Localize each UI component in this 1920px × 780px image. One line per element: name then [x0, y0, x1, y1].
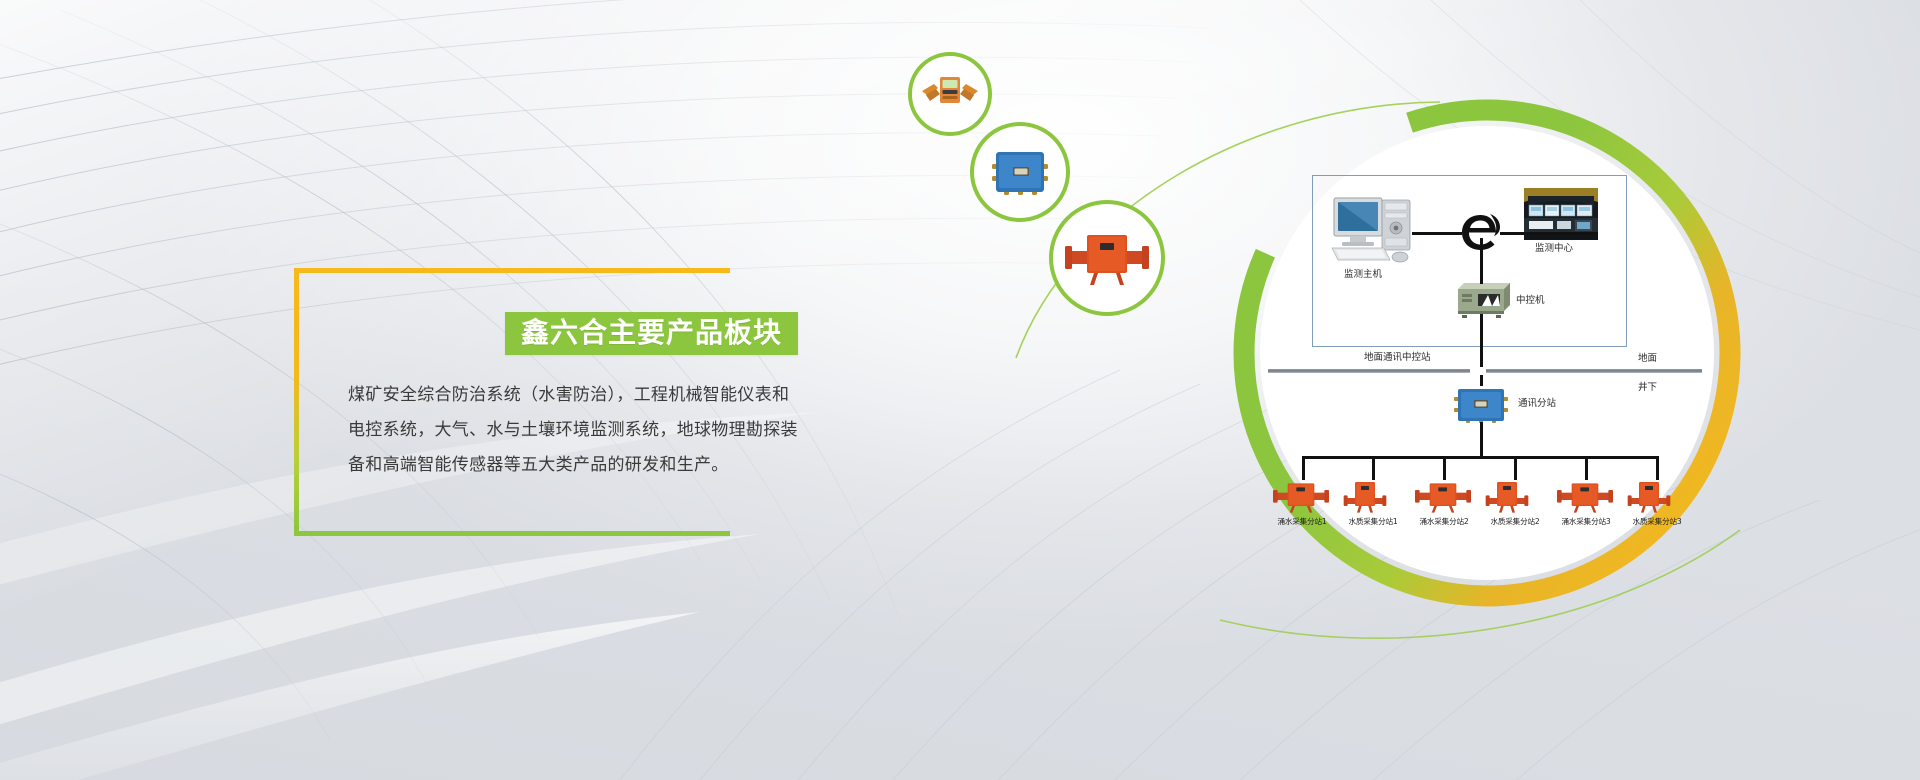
wire-host-to-net [1412, 232, 1462, 235]
substation-row: 涌水采集分站1 水质采集分站1 [1260, 456, 1714, 580]
substation-label: 涌水采集分站2 [1412, 516, 1476, 527]
underground-zone-label: 井下 [1638, 382, 1657, 393]
red-flowmeter-icon [1341, 478, 1389, 514]
blue-junction-box-icon [982, 144, 1058, 200]
substation-item: 涌水采集分站3 [1554, 478, 1618, 527]
wire-net-to-center [1500, 232, 1598, 235]
substation-item: 水质采集分站1 [1341, 478, 1405, 527]
diagram-content: 监测主机 [1260, 126, 1714, 580]
substation-item: 水质采集分站3 [1625, 478, 1689, 527]
description-line-2: 电控系统，大气、水与土壤环境监测系统，地球物理勘探装 [348, 413, 868, 448]
red-flowmeter-icon [1061, 227, 1153, 289]
surface-station-label: 地面通讯中控站 [1364, 352, 1431, 363]
ground-divider-gap [1470, 367, 1486, 375]
red-flowmeter-icon [1412, 478, 1474, 514]
wire-substation-trunk [1480, 422, 1483, 458]
surface-zone-label: 地面 [1638, 353, 1657, 364]
substation-item: 涌水采集分站2 [1412, 478, 1476, 527]
bubble-junction-box [970, 122, 1070, 222]
substation-label: 水质采集分站1 [1341, 516, 1405, 527]
substation-label: 水质采集分站2 [1483, 516, 1547, 527]
red-flowmeter-icon [1625, 478, 1673, 514]
wire-net-to-controller [1480, 238, 1483, 284]
monitor-center-label: 监测中心 [1535, 243, 1573, 254]
section-title-banner: 鑫六合主要产品板块 [505, 312, 798, 355]
substation-label: 水质采集分站3 [1625, 516, 1689, 527]
description-line-3: 备和高端智能传感器等五大类产品的研发和生产。 [348, 448, 868, 483]
description-block: 煤矿安全综合防治系统（水害防治），工程机械智能仪表和 电控系统，大气、水与土壤环… [348, 378, 868, 483]
red-flowmeter-icon [1270, 478, 1332, 514]
page-title: 鑫六合主要产品板块 [521, 316, 782, 349]
description-line-1: 煤矿安全综合防治系统（水害防治），工程机械智能仪表和 [348, 378, 868, 413]
red-flowmeter-icon [1483, 478, 1531, 514]
monitor-host-graphic: 监测主机 [1328, 192, 1422, 268]
substation-item: 涌水采集分站1 [1270, 478, 1334, 527]
desktop-computer-icon [1328, 192, 1422, 268]
substation-item: 水质采集分站2 [1483, 478, 1547, 527]
system-diagram-graphic: 监测主机 [920, 60, 1920, 720]
orange-clamp-sensor-icon [918, 71, 982, 117]
bubble-flowmeter [1049, 200, 1165, 316]
substation-label: 涌水采集分站1 [1270, 516, 1334, 527]
bubble-sensor [908, 52, 992, 136]
wire-controller-to-substation [1480, 314, 1483, 386]
substation-label: 涌水采集分站3 [1554, 516, 1618, 527]
monitor-host-label: 监测主机 [1344, 269, 1382, 280]
comm-substation-label: 通讯分站 [1518, 398, 1556, 409]
central-controller-label: 中控机 [1516, 295, 1545, 306]
red-flowmeter-icon [1554, 478, 1616, 514]
